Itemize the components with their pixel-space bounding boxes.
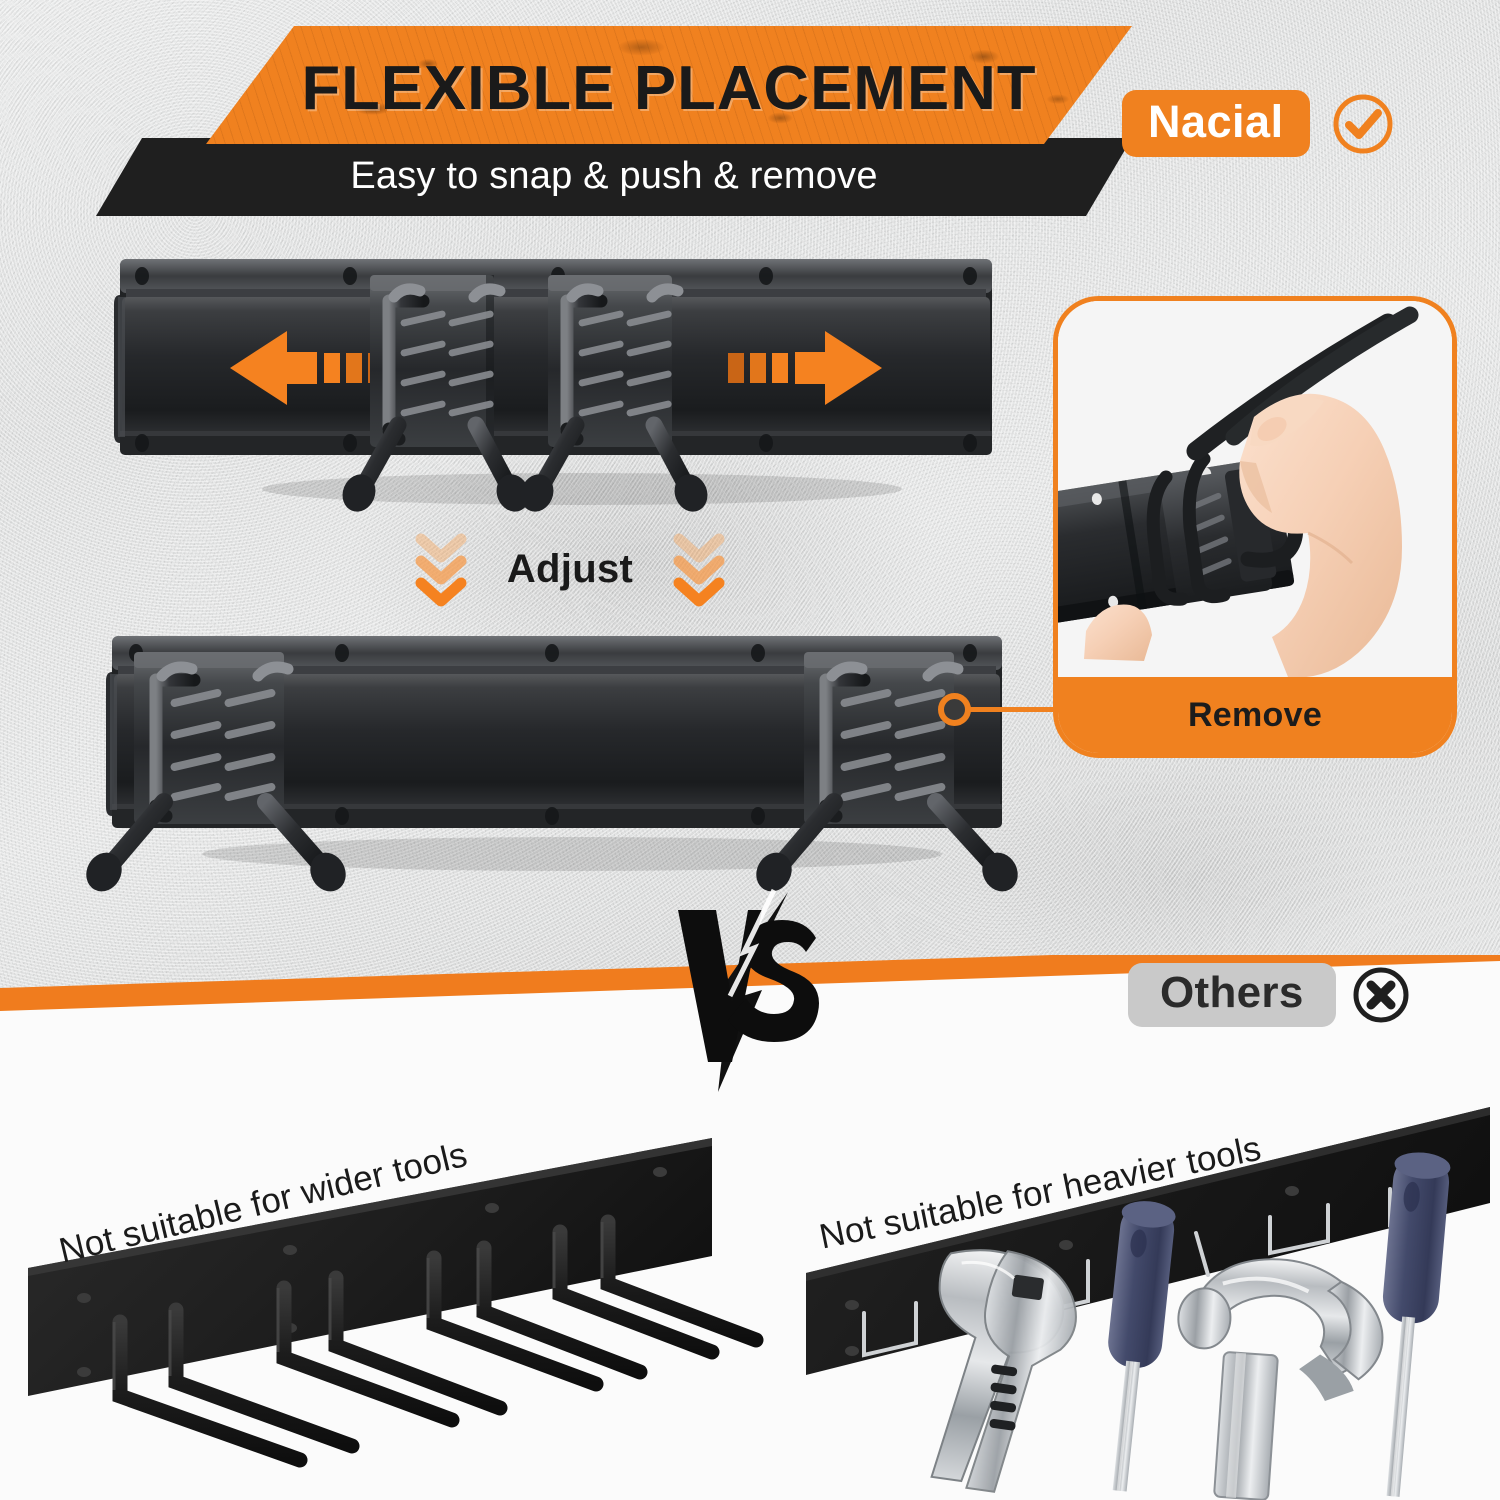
adjust-label: Adjust	[507, 547, 633, 592]
brand-name: Nacial	[1122, 90, 1310, 157]
others-product-heavier-tools	[800, 1055, 1500, 1500]
x-circle-icon	[1352, 966, 1410, 1024]
check-circle-icon	[1332, 93, 1394, 155]
page-title: FLEXIBLE PLACEMENT	[197, 32, 1142, 144]
others-badge: Others	[1128, 963, 1410, 1027]
chevron-down-icon	[673, 533, 725, 605]
product-rail-top	[112, 253, 1000, 513]
others-product-wider-tools	[0, 1060, 760, 1500]
header-banner: FLEXIBLE PLACEMENT Easy to snap & push &…	[96, 26, 1132, 216]
vs-label	[678, 910, 819, 1062]
adjust-indicator: Adjust	[415, 520, 725, 618]
remove-label: Remove	[1058, 677, 1452, 753]
remove-callout-panel: Remove	[1053, 296, 1457, 758]
callout-leader-line	[960, 707, 1060, 712]
callout-leader-dot	[938, 693, 971, 726]
remove-photo	[1058, 301, 1452, 687]
others-name: Others	[1128, 963, 1336, 1027]
product-rail-bottom	[52, 622, 1064, 902]
page-subtitle: Easy to snap & push & remove	[96, 138, 1132, 214]
chevron-down-icon	[415, 533, 467, 605]
brand-badge: Nacial	[1122, 90, 1394, 157]
infographic-canvas: FLEXIBLE PLACEMENT Easy to snap & push &…	[0, 0, 1500, 1500]
